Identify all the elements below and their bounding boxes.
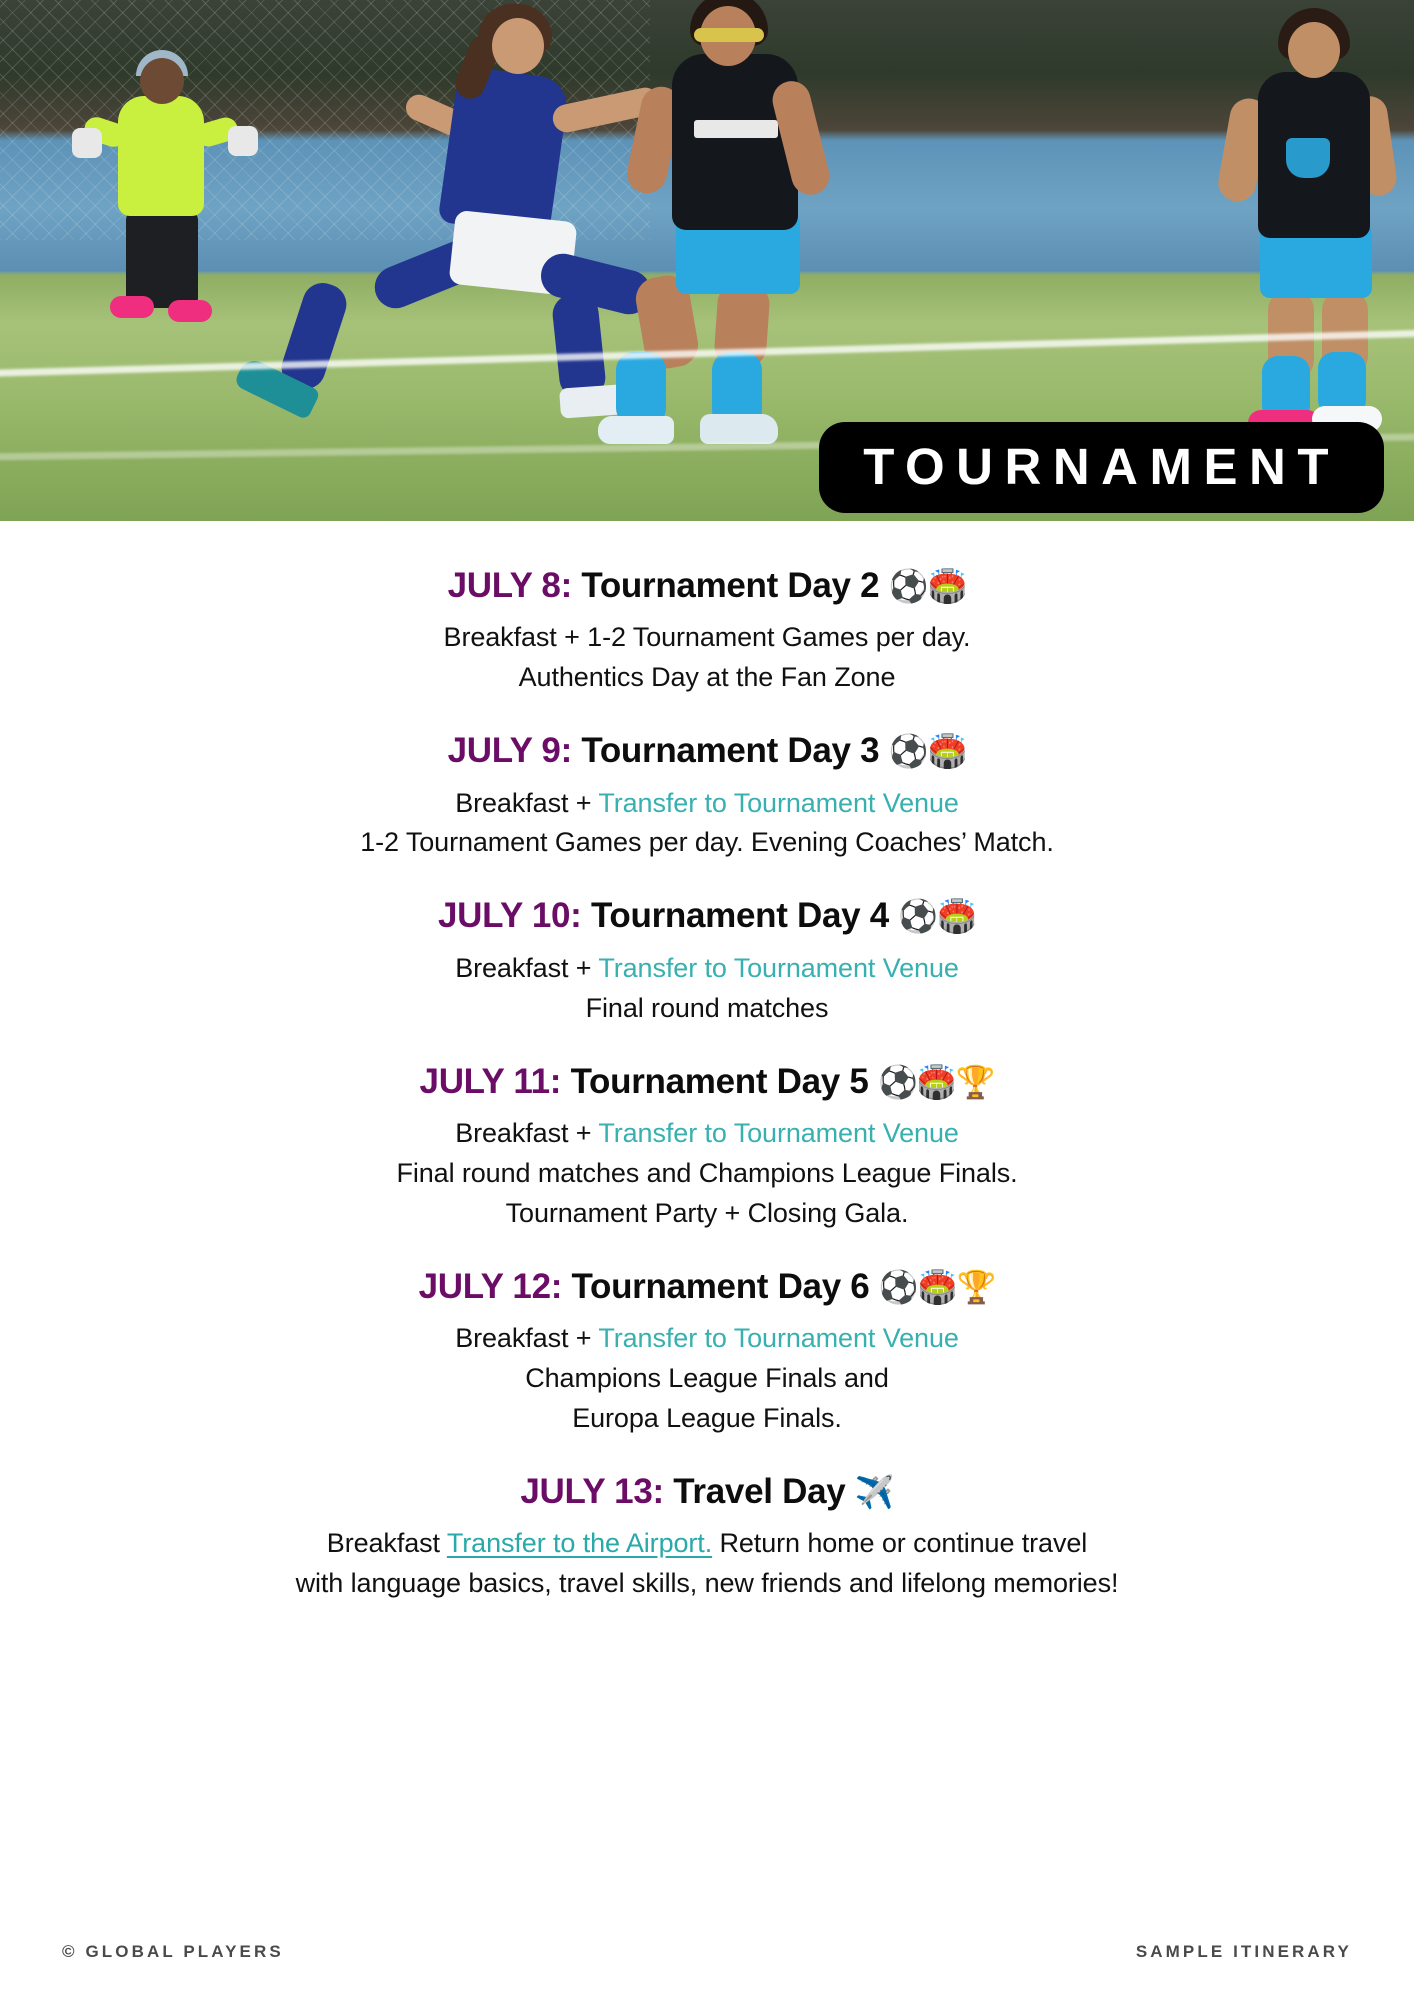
day-title-label: Tournament Day 2 — [572, 566, 889, 605]
airport-transfer-link[interactable]: Transfer to the Airport. — [447, 1528, 712, 1558]
keeper-boot-left-shape — [110, 296, 154, 318]
detail-text: Tournament Party + Closing Gala. — [506, 1198, 909, 1228]
day-emoji-icon: ⚽🏟️ — [889, 567, 967, 605]
day-date-label: JULY 11: — [420, 1062, 562, 1101]
black-player-left-sock-shape — [616, 352, 666, 426]
day-heading: JULY 13: Travel Day ✈️ — [54, 1471, 1360, 1512]
itinerary-day-entry: JULY 9: Tournament Day 3 ⚽🏟️Breakfast + … — [54, 730, 1360, 863]
day-detail-line: 1-2 Tournament Games per day. Evening Co… — [54, 823, 1360, 863]
day-emoji-icon: ⚽🏟️🏆 — [879, 1268, 996, 1306]
itinerary-day-entry: JULY 12: Tournament Day 6 ⚽🏟️🏆Breakfast … — [54, 1266, 1360, 1439]
keeper-glove-left-shape — [72, 128, 102, 158]
day-emoji-icon: ⚽🏟️ — [889, 732, 967, 770]
transfer-highlight-text: Transfer to Tournament Venue — [598, 1118, 958, 1148]
page-footer: © GLOBAL PLAYERS SAMPLE ITINERARY — [0, 1904, 1414, 2000]
itinerary-day-entry: JULY 10: Tournament Day 4 ⚽🏟️Breakfast +… — [54, 895, 1360, 1028]
black-player-headband-shape — [694, 28, 764, 42]
itinerary-schedule-list: JULY 8: Tournament Day 2 ⚽🏟️Breakfast + … — [0, 521, 1414, 1904]
right-player-crest-shape — [1286, 138, 1330, 178]
black-player-left-boot-shape — [598, 416, 674, 444]
day-title-label: Tournament Day 6 — [562, 1267, 879, 1306]
day-heading: JULY 10: Tournament Day 4 ⚽🏟️ — [54, 895, 1360, 936]
day-detail-line: Breakfast + Transfer to Tournament Venue — [54, 949, 1360, 989]
detail-text: Breakfast + — [455, 1118, 598, 1148]
day-detail-line: Tournament Party + Closing Gala. — [54, 1194, 1360, 1234]
day-title-label: Tournament Day 5 — [561, 1062, 878, 1101]
transfer-highlight-text: Transfer to Tournament Venue — [598, 953, 958, 983]
page-title: TOURNAMENT — [863, 441, 1340, 492]
detail-text: Champions League Finals and — [525, 1363, 889, 1393]
detail-text: Final round matches and Champions League… — [396, 1158, 1017, 1188]
day-date-label: JULY 10: — [438, 896, 582, 935]
day-title-label: Tournament Day 3 — [572, 731, 889, 770]
itinerary-day-entry: JULY 8: Tournament Day 2 ⚽🏟️Breakfast + … — [54, 565, 1360, 698]
blue-player-head-shape — [492, 18, 544, 74]
detail-text: Breakfast + 1-2 Tournament Games per day… — [444, 622, 971, 652]
day-detail-line: Breakfast + Transfer to Tournament Venue — [54, 1319, 1360, 1359]
day-detail-line: Breakfast + Transfer to Tournament Venue — [54, 784, 1360, 824]
day-date-label: JULY 9: — [448, 731, 572, 770]
footer-copyright: © GLOBAL PLAYERS — [62, 1942, 284, 1962]
keeper-head-shape — [140, 58, 184, 104]
right-player-head-shape — [1288, 22, 1340, 78]
keeper-boot-right-shape — [168, 300, 212, 322]
detail-text: Breakfast + — [455, 953, 598, 983]
keeper-legs-shape — [126, 210, 198, 308]
keeper-glove-right-shape — [228, 126, 258, 156]
detail-text: Breakfast + — [455, 1323, 598, 1353]
day-date-label: JULY 12: — [419, 1267, 563, 1306]
day-date-label: JULY 8: — [448, 566, 572, 605]
hero-photo-banner: TOURNAMENT — [0, 0, 1414, 521]
day-title-label: Tournament Day 4 — [582, 896, 899, 935]
detail-text: Breakfast + — [455, 788, 598, 818]
day-detail-line: Europa League Finals. — [54, 1399, 1360, 1439]
day-detail-line: Final round matches and Champions League… — [54, 1154, 1360, 1194]
detail-text: Breakfast — [327, 1528, 447, 1558]
footer-label-sample-itinerary: SAMPLE ITINERARY — [1136, 1942, 1352, 1962]
transfer-highlight-text: Transfer to Tournament Venue — [598, 788, 958, 818]
day-detail-line: Breakfast Transfer to the Airport. Retur… — [54, 1524, 1360, 1564]
day-emoji-icon: ⚽🏟️ — [898, 897, 976, 935]
itinerary-page: TOURNAMENT JULY 8: Tournament Day 2 ⚽🏟️B… — [0, 0, 1414, 2000]
day-detail-line: Breakfast + Transfer to Tournament Venue — [54, 1114, 1360, 1154]
day-emoji-icon: ⚽🏟️🏆 — [878, 1063, 995, 1101]
itinerary-day-entry: JULY 11: Tournament Day 5 ⚽🏟️🏆Breakfast … — [54, 1061, 1360, 1234]
day-heading: JULY 12: Tournament Day 6 ⚽🏟️🏆 — [54, 1266, 1360, 1307]
day-heading: JULY 9: Tournament Day 3 ⚽🏟️ — [54, 730, 1360, 771]
day-date-label: JULY 13: — [520, 1472, 664, 1511]
day-heading: JULY 11: Tournament Day 5 ⚽🏟️🏆 — [54, 1061, 1360, 1102]
jersey-wordmark-shape — [694, 120, 778, 138]
itinerary-day-entry: JULY 13: Travel Day ✈️Breakfast Transfer… — [54, 1471, 1360, 1604]
day-detail-line: with language basics, travel skills, new… — [54, 1564, 1360, 1604]
day-detail-line: Breakfast + 1-2 Tournament Games per day… — [54, 618, 1360, 658]
day-detail-line: Authentics Day at the Fan Zone — [54, 658, 1360, 698]
transfer-highlight-text: Transfer to Tournament Venue — [598, 1323, 958, 1353]
tournament-title-badge: TOURNAMENT — [819, 422, 1384, 513]
detail-text: with language basics, travel skills, new… — [296, 1568, 1119, 1598]
detail-text: Final round matches — [586, 993, 829, 1023]
detail-text: Authentics Day at the Fan Zone — [519, 662, 896, 692]
black-player-right-boot-shape — [700, 414, 778, 444]
detail-text: Europa League Finals. — [572, 1403, 842, 1433]
day-emoji-icon: ✈️ — [855, 1473, 894, 1511]
keeper-body-shape — [118, 96, 204, 216]
day-detail-line: Final round matches — [54, 989, 1360, 1029]
black-player-torso-shape — [672, 54, 798, 230]
detail-text: Return home or continue travel — [712, 1528, 1087, 1558]
day-detail-line: Champions League Finals and — [54, 1359, 1360, 1399]
day-title-label: Travel Day — [664, 1472, 855, 1511]
detail-text: 1-2 Tournament Games per day. Evening Co… — [360, 827, 1054, 857]
day-heading: JULY 8: Tournament Day 2 ⚽🏟️ — [54, 565, 1360, 606]
